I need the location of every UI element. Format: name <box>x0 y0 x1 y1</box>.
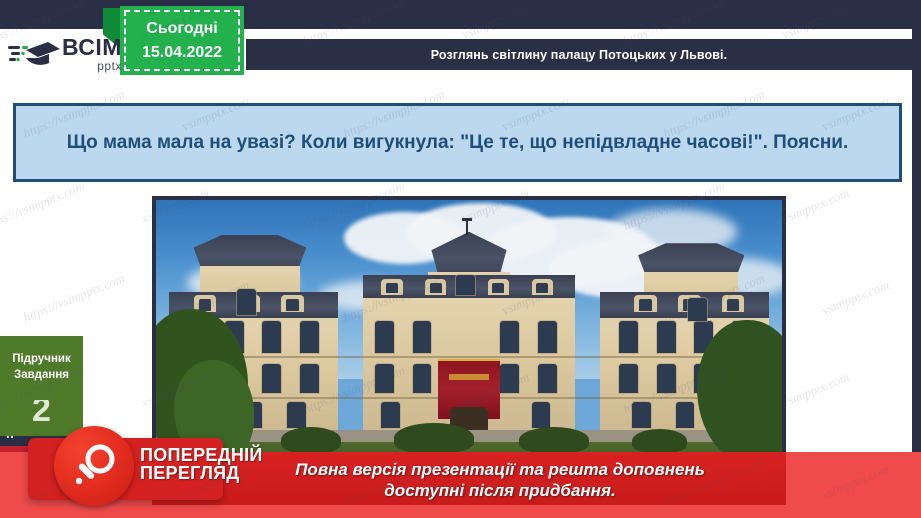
preview-line1: ПОПЕРЕДНІЙ <box>140 446 263 464</box>
graduation-cap-icon <box>8 37 60 71</box>
task-number: 2 <box>32 396 51 425</box>
window <box>413 364 432 393</box>
window <box>413 321 432 353</box>
instruction-bar: Розглянь світлину палацу Потоцьких у Льв… <box>246 39 912 70</box>
dormer <box>425 279 446 295</box>
window <box>262 321 281 353</box>
dormer <box>722 295 745 312</box>
presentation-slide: ВСІМ pptx Сьогодні 15.04.2022 Розглянь с… <box>0 0 921 518</box>
window <box>657 364 676 393</box>
window <box>381 402 400 428</box>
sidebar-tab-line2: Завдання <box>14 368 69 384</box>
window <box>375 364 394 393</box>
preview-line2: ПЕРЕГЛЯД <box>140 464 263 482</box>
bush <box>519 427 589 453</box>
date-badge: Сьогодні 15.04.2022 <box>120 6 244 75</box>
date-badge-value: 15.04.2022 <box>142 41 222 64</box>
watermark-text: vsimpptx.com <box>780 185 852 226</box>
question-text: Що мама мала на увазі? Коли вигукнула: "… <box>59 131 857 155</box>
purchase-banner-line1: Повна версія презентації та решта доповн… <box>295 459 705 480</box>
purchase-banner-line2: доступні після придбання. <box>384 480 615 501</box>
bush <box>394 423 474 453</box>
bush <box>632 429 687 453</box>
window <box>538 364 557 393</box>
dormer <box>634 295 657 312</box>
window <box>619 364 638 393</box>
spire-decoration <box>466 219 468 235</box>
right-edge-bar <box>912 0 921 518</box>
watermark-text: vsimpptx.com <box>780 369 852 410</box>
window <box>619 321 638 353</box>
dormer <box>532 279 553 295</box>
window <box>237 289 256 315</box>
window <box>300 364 319 393</box>
cornice-line <box>169 356 770 358</box>
window <box>538 321 557 353</box>
question-box: Що мама мала на увазі? Коли вигукнула: "… <box>13 103 902 182</box>
window <box>632 402 651 428</box>
dormer <box>381 279 402 295</box>
watermark-text: https://vsimpptx.com <box>21 270 127 325</box>
sidebar-tab-number-area: 2 <box>0 396 83 436</box>
window <box>657 321 676 353</box>
window <box>287 402 306 428</box>
magnifier-icon <box>54 426 134 506</box>
window <box>676 402 695 428</box>
bush <box>281 427 341 453</box>
window <box>500 364 519 393</box>
logo-wordmark: ВСІМ <box>62 36 122 59</box>
window <box>500 321 519 353</box>
preview-overlay-card[interactable]: ПОПЕРЕДНІЙ ПЕРЕГЛЯД <box>28 438 223 500</box>
logo-subtext: pptx <box>62 60 122 72</box>
sidebar-tab-line1: Підручник <box>12 352 70 368</box>
sidebar-tab-textbook-task[interactable]: Підручник Завдання <box>0 336 83 400</box>
dormer <box>488 279 509 295</box>
window <box>532 402 551 428</box>
watermark-text: vsimpptx.com <box>820 277 892 318</box>
instruction-text: Розглянь світлину палацу Потоцьких у Льв… <box>431 48 727 62</box>
brand-logo: ВСІМ pptx <box>8 32 116 76</box>
watermark-text: https://vsimpptx.com <box>0 178 87 233</box>
preview-overlay-text: ПОПЕРЕДНІЙ ПЕРЕГЛЯД <box>140 446 263 483</box>
window <box>262 364 281 393</box>
window <box>688 298 707 321</box>
purchase-banner: Повна версія презентації та решта доповн… <box>200 455 800 505</box>
date-badge-label: Сьогодні <box>146 17 217 40</box>
dormer <box>281 295 304 312</box>
window <box>300 321 319 353</box>
window <box>456 275 475 295</box>
window <box>375 321 394 353</box>
